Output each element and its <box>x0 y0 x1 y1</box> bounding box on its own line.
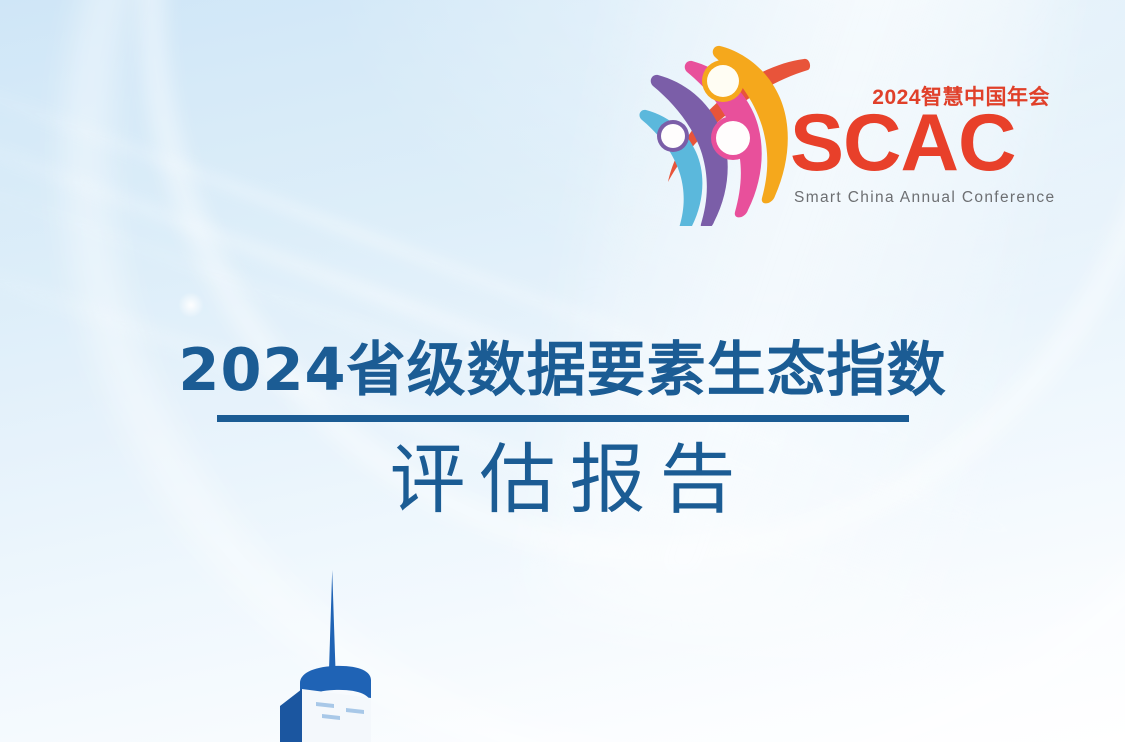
scac-logo: 2024智慧中国年会 SCAC Smart China Annual Confe… <box>622 26 1052 226</box>
cover-title-block: 2024省级数据要素生态指数 评估报告 <box>0 338 1125 520</box>
report-title-sub: 评估报告 <box>0 440 1125 520</box>
dot-purple-fill-icon <box>661 124 685 148</box>
report-title-main: 2024省级数据要素生态指数 <box>0 338 1125 402</box>
dot-orange-fill-icon <box>707 65 739 97</box>
dot-pink-fill-icon <box>716 121 750 155</box>
title-divider-rule <box>217 415 909 422</box>
building-antenna-icon <box>329 570 336 670</box>
background-spark <box>178 292 204 318</box>
building-left-flank-icon <box>280 689 302 742</box>
building-face-icon <box>302 689 371 742</box>
skyscraper-illustration <box>240 552 500 742</box>
logo-acronym: SCAC <box>790 103 1016 184</box>
report-cover-page: 2024智慧中国年会 SCAC Smart China Annual Confe… <box>0 0 1125 742</box>
logo-tagline: Smart China Annual Conference <box>794 189 1055 207</box>
scac-logo-wordmark: 2024智慧中国年会 SCAC Smart China Annual Confe… <box>788 81 1052 231</box>
